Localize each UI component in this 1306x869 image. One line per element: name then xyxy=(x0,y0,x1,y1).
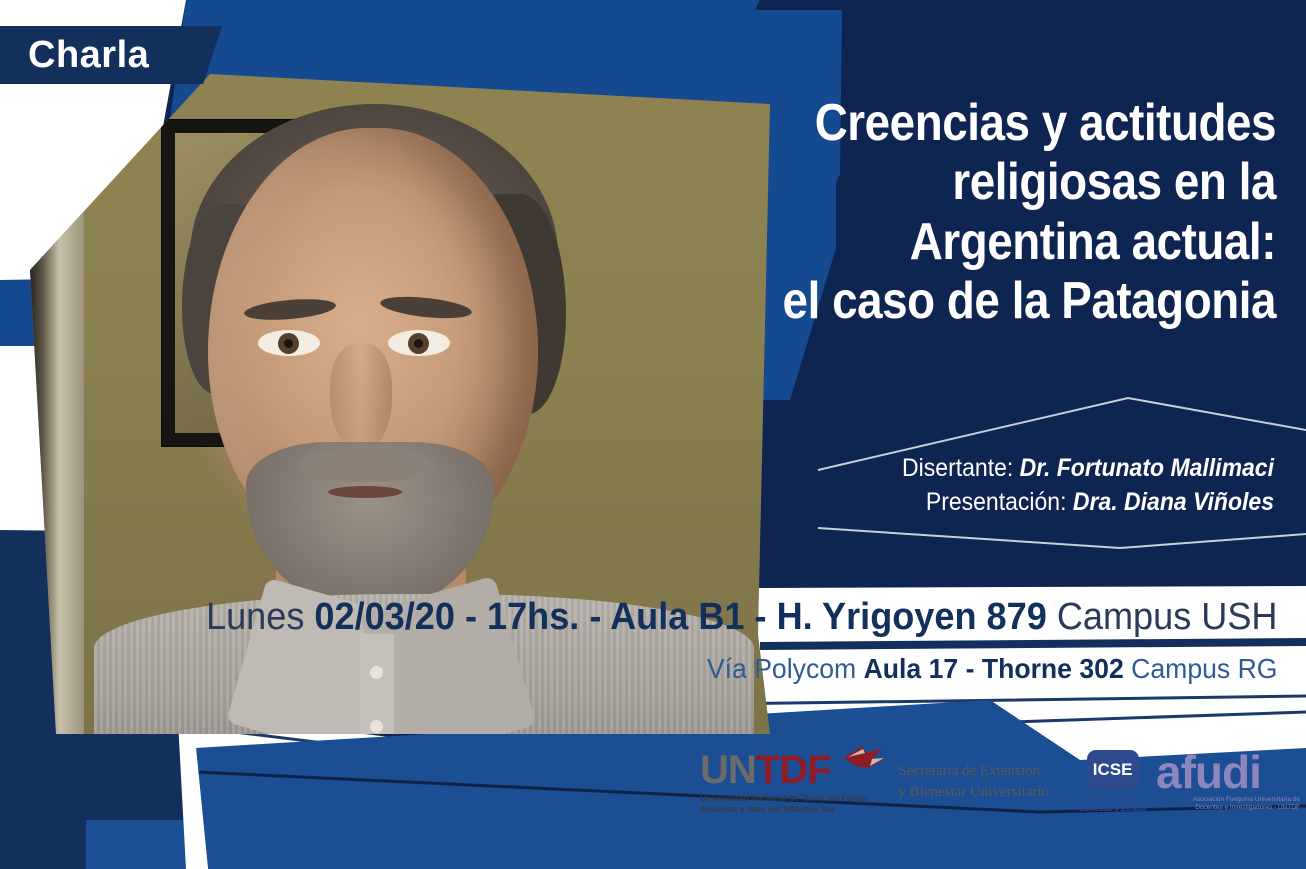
icse-acronym: ICSE xyxy=(1087,750,1139,790)
presenter-label: Presentación: xyxy=(926,488,1067,516)
photo-mouth xyxy=(328,486,402,498)
photo-iris-right xyxy=(408,333,429,354)
venue-secondary: Vía Polycom Aula 17 - Thorne 302 Campus … xyxy=(65,653,1306,685)
afudi-logo: afudi Asociación Fueguina Universitaria … xyxy=(1156,751,1300,813)
venue2-room: Aula 17 - Thorne 302 xyxy=(864,653,1124,684)
secretaria-block: Secretaría de Extensión y Bienestar Univ… xyxy=(898,761,1071,803)
speaker-row: Disertante: Dr. Fortunato Mallimaci xyxy=(685,452,1274,486)
afudi-subtitle: Asociación Fueguina Universitaria de Doc… xyxy=(1156,796,1300,813)
secretaria-line1: Secretaría de Extensión xyxy=(898,761,1071,782)
untdf-word-tdf: TDF xyxy=(756,748,831,792)
photo-mustache xyxy=(298,448,434,482)
venue2-prefix: Vía Polycom xyxy=(707,653,856,684)
untdf-subtitle-line1: Universidad Nacional de Tierra del Fuego… xyxy=(700,793,882,804)
speaker-name: Dr. Fortunato Mallimaci xyxy=(1020,454,1274,482)
poster-canvas: Charla Creencias y xyxy=(0,0,1306,869)
title-line-2: religiosas en la xyxy=(748,153,1276,212)
untdf-subtitle: Universidad Nacional de Tierra del Fuego… xyxy=(700,793,882,814)
icse-logo: ICSE Instituto de Cultura, Sociedad y Es… xyxy=(1075,750,1150,814)
venue-campus: Campus USH xyxy=(1057,596,1278,638)
photo-shirt-button xyxy=(370,720,383,733)
afudi-wordmark: afudi xyxy=(1156,751,1300,795)
photo-nose xyxy=(330,344,392,452)
venue-day: Lunes xyxy=(206,596,304,638)
venue-date-room: 02/03/20 - 17hs. - Aula B1 - H. Yrigoyen… xyxy=(314,596,1046,638)
venue-primary: Lunes 02/03/20 - 17hs. - Aula B1 - H. Yr… xyxy=(65,596,1306,639)
untdf-word-un: UN xyxy=(700,748,756,792)
presenter-row: Presentación: Dra. Diana Viñoles xyxy=(685,486,1274,520)
untdf-bird-icon xyxy=(842,744,888,778)
speaker-credits: Disertante: Dr. Fortunato Mallimaci Pres… xyxy=(685,452,1274,519)
title-line-3: Argentina actual: xyxy=(748,213,1276,272)
icse-subtitle-line1: Instituto de Cultura, xyxy=(1075,794,1150,804)
venue2-campus: Campus RG xyxy=(1131,653,1277,684)
speaker-label: Disertante: xyxy=(902,454,1013,482)
title-line-1: Creencias y actitudes xyxy=(748,94,1276,153)
afudi-subtitle-line2: Docentes e Investigadores - UNTDF xyxy=(1156,804,1300,812)
charla-badge-label: Charla xyxy=(0,34,149,77)
poster-title: Creencias y actitudes religiosas en la A… xyxy=(748,94,1276,331)
photo-eye-right xyxy=(388,330,450,356)
icse-subtitle-line2: Sociedad y Estado xyxy=(1075,804,1150,814)
photo-iris-left xyxy=(278,333,299,354)
secretaria-line2: y Bienestar Universitario xyxy=(898,782,1071,803)
presenter-name: Dra. Diana Viñoles xyxy=(1073,488,1274,516)
title-line-4: el caso de la Patagonia xyxy=(748,272,1276,331)
footer-logo-row: UNTDF Universidad Nacional de Tierra del… xyxy=(700,744,1300,820)
photo-eye-left xyxy=(258,330,320,356)
icse-subtitle: Instituto de Cultura, Sociedad y Estado xyxy=(1075,794,1150,814)
charla-badge: Charla xyxy=(0,26,196,84)
untdf-subtitle-line2: Antártida e Islas del Atlántico Sur xyxy=(700,804,882,815)
untdf-logo: UNTDF Universidad Nacional de Tierra del… xyxy=(700,750,882,814)
